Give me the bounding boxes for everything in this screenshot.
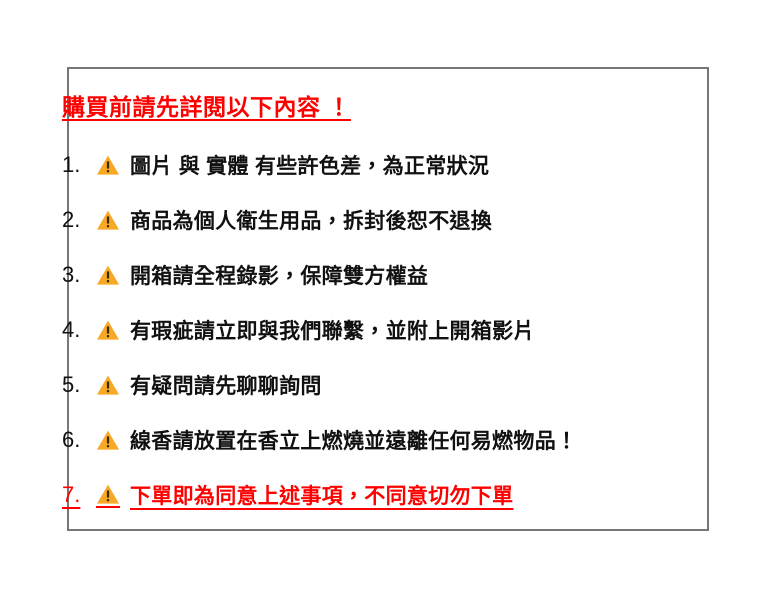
list-item-number: 4. [62, 317, 96, 343]
warning-triangle-icon [96, 263, 120, 287]
list-item-text: 下單即為同意上述事項，不同意切勿下單 [130, 480, 513, 510]
list-item-text: 線香請放置在香立上燃燒並遠離任何易燃物品！ [130, 425, 577, 455]
list-item-text: 商品為個人衛生用品，拆封後恕不退換 [130, 205, 492, 235]
notice-list-item-3: 3. 開箱請全程錄影，保障雙方權益 [62, 247, 722, 302]
warning-triangle-icon [96, 428, 120, 452]
purchase-notice-card: 購買前請先詳閱以下內容 ！ 1. 圖片 與 實體 有些許色差，為正常狀況 2. … [67, 67, 709, 531]
notice-list-item-5: 5. 有疑問請先聊聊詢問 [62, 357, 722, 412]
list-item-number: 1. [62, 152, 96, 178]
warning-triangle-icon [96, 208, 120, 232]
warning-triangle-icon [96, 318, 120, 342]
list-item-text: 有瑕疵請立即與我們聯繫，並附上開箱影片 [130, 315, 535, 345]
notice-list-item-2: 2. 商品為個人衛生用品，拆封後恕不退換 [62, 192, 722, 247]
list-item-text: 有疑問請先聊聊詢問 [130, 370, 322, 400]
warning-triangle-icon [96, 153, 120, 177]
list-item-text: 開箱請全程錄影，保障雙方權益 [130, 260, 428, 290]
list-item-number: 2. [62, 207, 96, 233]
notice-list-item-1: 1. 圖片 與 實體 有些許色差，為正常狀況 [62, 137, 722, 192]
notice-list: 1. 圖片 與 實體 有些許色差，為正常狀況 2. 商品為個人衛生用品，拆封後恕… [62, 137, 722, 522]
warning-triangle-icon [96, 373, 120, 397]
list-item-text: 圖片 與 實體 有些許色差，為正常狀況 [130, 150, 489, 180]
list-item-number: 3. [62, 262, 96, 288]
notice-list-item-4: 4. 有瑕疵請立即與我們聯繫，並附上開箱影片 [62, 302, 722, 357]
notice-list-item-7: 7. 下單即為同意上述事項，不同意切勿下單 [62, 467, 722, 522]
warning-triangle-icon [96, 482, 120, 508]
list-item-number: 7. [62, 482, 96, 508]
list-item-number: 5. [62, 372, 96, 398]
notice-list-item-6: 6. 線香請放置在香立上燃燒並遠離任何易燃物品！ [62, 412, 722, 467]
notice-title: 購買前請先詳閱以下內容 ！ [62, 88, 351, 122]
list-item-number: 6. [62, 427, 96, 453]
